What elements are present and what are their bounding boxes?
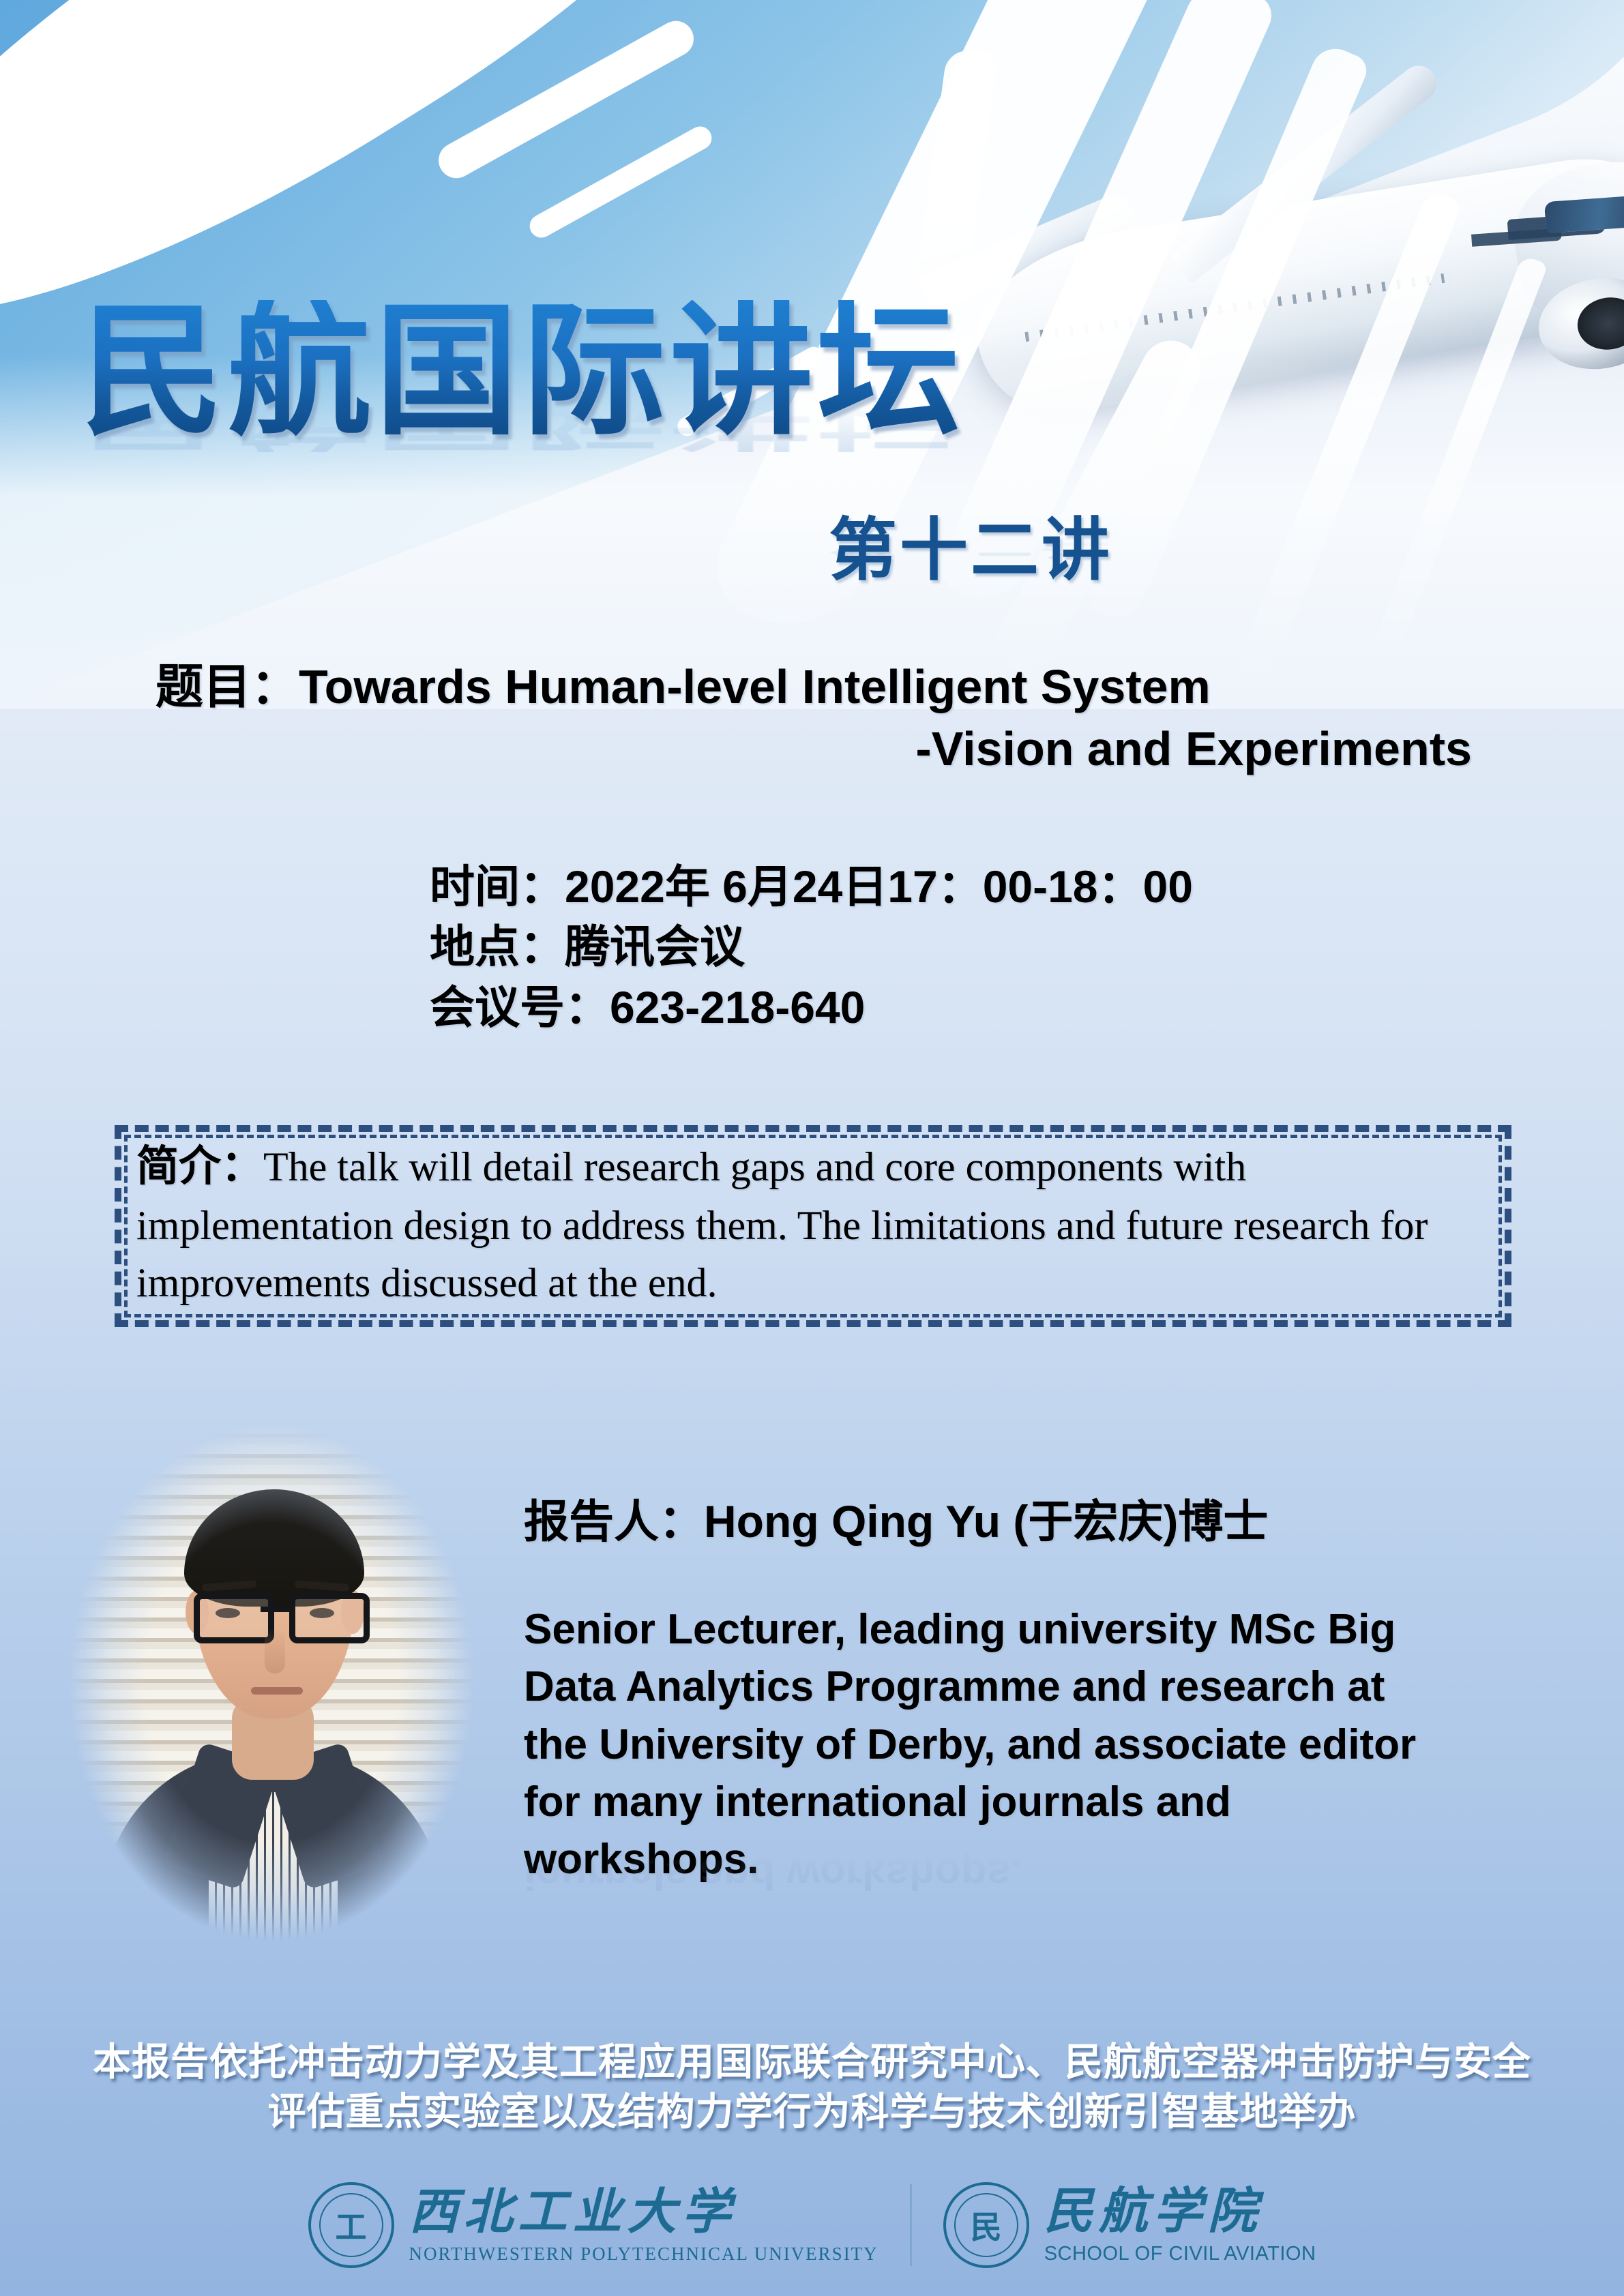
brush-stroke-icon bbox=[1235, 190, 1463, 684]
nwpu-logo-text: 西北工业大学 NORTHWESTERN POLYTECHNICAL UNIVER… bbox=[409, 2188, 879, 2263]
plane-fuselage bbox=[964, 144, 1624, 424]
talk-title-block: 题目：Towards Human-level Intelligent Syste… bbox=[156, 656, 1479, 780]
event-time: 时间：2022年 6月24日17：00-18：00 bbox=[430, 856, 1193, 916]
civil-aviation-logo-cn: 民航学院 bbox=[1044, 2187, 1316, 2236]
forum-title: 民航国际讲坛 bbox=[80, 300, 964, 443]
logo-nwpu: 工 西北工业大学 NORTHWESTERN POLYTECHNICAL UNIV… bbox=[308, 2182, 879, 2268]
portrait-mouth bbox=[251, 1687, 303, 1695]
footer-logos: 工 西北工业大学 NORTHWESTERN POLYTECHNICAL UNIV… bbox=[0, 2182, 1624, 2268]
plane-tail-fin bbox=[915, 48, 999, 292]
abstract-text-block: 简介：The talk will detail research gaps an… bbox=[136, 1137, 1494, 1311]
event-meta-block: 时间：2022年 6月24日17：00-18：00 地点：腾讯会议 会议号：62… bbox=[430, 856, 1193, 1037]
glasses-lens-left bbox=[194, 1593, 274, 1643]
session-label: 第十二讲 bbox=[829, 494, 1112, 593]
plane-nose bbox=[1505, 147, 1624, 333]
event-place: 地点：腾讯会议 bbox=[430, 916, 1193, 976]
brush-stroke-icon bbox=[1082, 42, 1371, 627]
brush-stroke-icon bbox=[432, 14, 700, 184]
header-graphic bbox=[0, 0, 1624, 927]
speaker-portrait bbox=[60, 1424, 483, 1963]
abstract-body: The talk will detail research gaps and c… bbox=[136, 1144, 1428, 1305]
glasses-icon bbox=[192, 1593, 359, 1634]
plane-engine-intake bbox=[1574, 293, 1624, 354]
speaker-name: 报告人：Hong Qing Yu (于宏庆)博士 bbox=[524, 1485, 1268, 1551]
nwpu-seal-icon: 工 bbox=[308, 2182, 394, 2268]
plane-wing bbox=[1169, 59, 1443, 284]
logo-divider bbox=[910, 2184, 912, 2266]
talk-title-line1: 题目：Towards Human-level Intelligent Syste… bbox=[156, 660, 1211, 713]
logo-school-civil-aviation: 民 民航学院 SCHOOL OF CIVIL AVIATION bbox=[943, 2182, 1316, 2268]
footer-note-line-1: 本报告依托冲击动力学及其工程应用国际联合研究中心、民航航空器冲击防护与安全 bbox=[0, 2038, 1624, 2087]
footer-note-line-2: 评估重点实验室以及结构力学行为科学与技术创新引智基地举办 bbox=[0, 2087, 1624, 2137]
plane-cockpit-windows bbox=[1544, 194, 1624, 233]
talk-title-line2: -Vision and Experiments bbox=[156, 718, 1479, 780]
brush-stroke-icon bbox=[526, 122, 716, 241]
plane-windows bbox=[1024, 273, 1445, 342]
glasses-lens-right bbox=[289, 1593, 370, 1643]
event-meeting-id: 会议号：623-218-640 bbox=[430, 977, 1193, 1037]
plane-engine bbox=[1532, 269, 1624, 378]
nwpu-seal-glyph: 工 bbox=[336, 2203, 367, 2248]
footer-note: 本报告依托冲击动力学及其工程应用国际联合研究中心、民航航空器冲击防护与安全 评估… bbox=[0, 2038, 1624, 2137]
nwpu-logo-cn: 西北工业大学 bbox=[409, 2188, 879, 2237]
nwpu-logo-en: NORTHWESTERN POLYTECHNICAL UNIVERSITY bbox=[409, 2245, 879, 2263]
poster-root: 民航国际讲坛 民航国际讲坛 第十二讲 第十二讲 题目：Towards Human… bbox=[0, 0, 1624, 2296]
brush-stroke-icon bbox=[1371, 254, 1548, 659]
civil-aviation-seal-glyph: 民 bbox=[971, 2203, 1002, 2248]
civil-aviation-logo-text: 民航学院 SCHOOL OF CIVIL AVIATION bbox=[1044, 2187, 1316, 2264]
civil-aviation-seal-icon: 民 bbox=[943, 2182, 1029, 2268]
abstract-label: 简介： bbox=[136, 1143, 263, 1190]
speaker-bio-reflection: journals and workshops. bbox=[524, 1845, 1424, 1903]
portrait-nose bbox=[265, 1628, 285, 1673]
glasses-bridge bbox=[261, 1607, 292, 1612]
civil-aviation-logo-en: SCHOOL OF CIVIL AVIATION bbox=[1044, 2244, 1316, 2264]
